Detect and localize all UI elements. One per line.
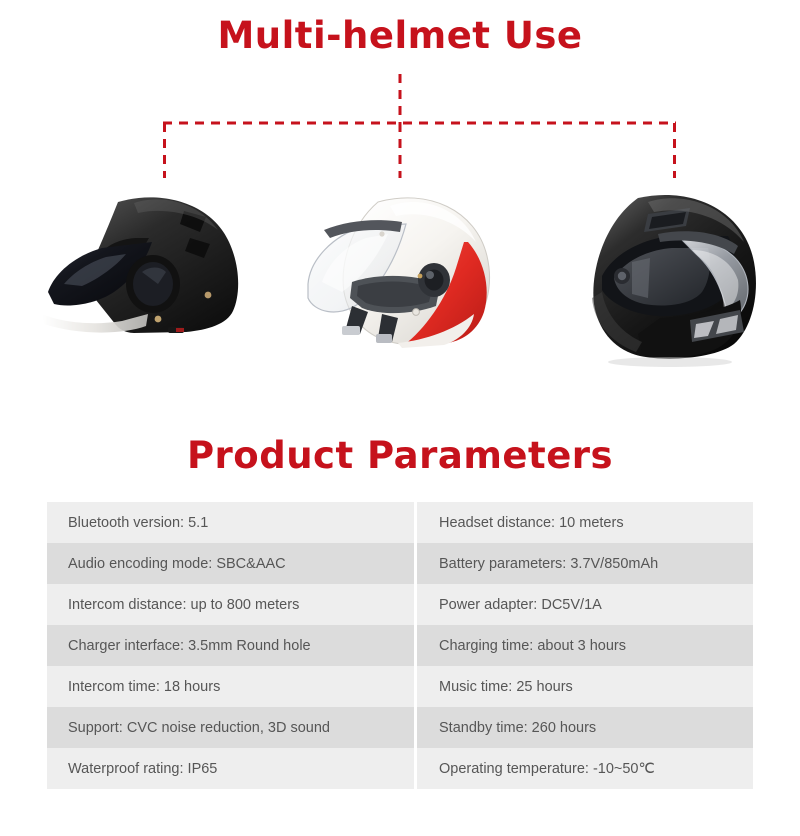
helmet1-strap-tag [176, 328, 184, 332]
helmet2-buckle-right [376, 334, 392, 343]
helmet2-screw-pod [418, 274, 423, 279]
table-row: Bluetooth version: 5.1 Headset distance:… [47, 502, 753, 543]
helmet1-screw-rear [205, 292, 212, 299]
param-cell-right: Music time: 25 hours [417, 666, 753, 707]
param-cell-right: Battery parameters: 3.7V/850mAh [417, 543, 753, 584]
helmet-image-black-half-face [30, 180, 280, 380]
helmet1-screw-front [155, 316, 162, 323]
helmet3-pivot-inner [618, 272, 626, 280]
helmet-image-row [0, 180, 800, 380]
table-row: Support: CVC noise reduction, 3D sound S… [47, 707, 753, 748]
table-row: Waterproof rating: IP65 Operating temper… [47, 748, 753, 789]
param-cell-left: Support: CVC noise reduction, 3D sound [47, 707, 417, 748]
param-cell-left: Waterproof rating: IP65 [47, 748, 417, 789]
table-row: Charger interface: 3.5mm Round hole Char… [47, 625, 753, 666]
param-cell-right: Charging time: about 3 hours [417, 625, 753, 666]
table-row: Intercom distance: up to 800 meters Powe… [47, 584, 753, 625]
param-cell-right: Standby time: 260 hours [417, 707, 753, 748]
table-row: Intercom time: 18 hours Music time: 25 h… [47, 666, 753, 707]
param-cell-left: Charger interface: 3.5mm Round hole [47, 625, 417, 666]
helmet2-screw-top [379, 231, 384, 236]
helmet-image-white-red-open-face [278, 180, 528, 380]
helmet-image-black-full-face [540, 180, 790, 380]
param-cell-right: Headset distance: 10 meters [417, 502, 753, 543]
table-row: Audio encoding mode: SBC&AAC Battery par… [47, 543, 753, 584]
param-cell-left: Intercom time: 18 hours [47, 666, 417, 707]
helmet2-pod-gloss [426, 271, 434, 279]
product-parameters-table: Bluetooth version: 5.1 Headset distance:… [47, 502, 753, 789]
param-cell-right: Power adapter: DC5V/1A [417, 584, 753, 625]
param-cell-right: Operating temperature: -10~50℃ [417, 748, 753, 789]
param-cell-left: Bluetooth version: 5.1 [47, 502, 417, 543]
helmet2-screw-front [413, 309, 420, 316]
helmet3-interior-cheekpad [632, 258, 650, 298]
page-title-multi-helmet-use: Multi-helmet Use [0, 14, 800, 57]
param-cell-left: Audio encoding mode: SBC&AAC [47, 543, 417, 584]
helmet3-shadow [608, 357, 732, 367]
param-cell-left: Intercom distance: up to 800 meters [47, 584, 417, 625]
page-title-product-parameters: Product Parameters [0, 434, 800, 477]
helmet2-buckle-left [342, 326, 360, 335]
